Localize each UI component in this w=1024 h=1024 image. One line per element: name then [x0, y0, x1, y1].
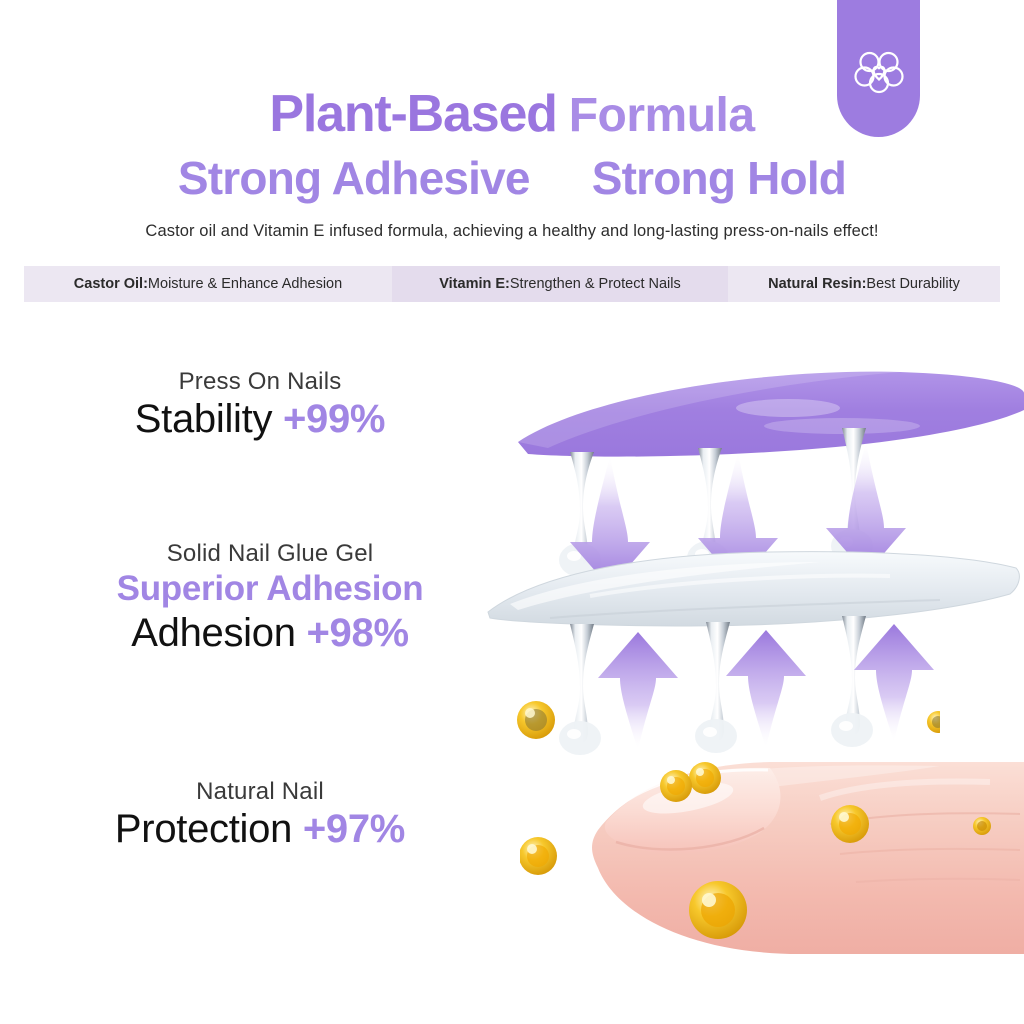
headline-formula: Formula	[569, 89, 755, 142]
stat-title: Protection	[115, 807, 292, 851]
oil-capsule	[660, 770, 692, 802]
ingredient-value: Best Durability	[866, 276, 959, 292]
ingredient-key: Natural Resin:	[768, 276, 866, 292]
flower-heart-icon	[851, 42, 907, 98]
stat-press-on-nails: Press On Nails Stability +99%	[90, 368, 430, 443]
oil-capsule	[927, 711, 940, 733]
oil-capsule	[517, 701, 555, 739]
ingredient-castor-oil: Castor Oil: Moisture & Enhance Adhesion	[24, 266, 392, 302]
stat-caption: Press On Nails	[90, 368, 430, 396]
stat-headline: Adhesion +98%	[60, 610, 480, 657]
infographic-canvas: Plant-BasedFormula Strong AdhesiveStrong…	[0, 0, 1024, 1024]
stat-percent: +99%	[283, 397, 385, 441]
headline-strong-hold: Strong Hold	[592, 152, 846, 204]
stat-natural-nail: Natural Nail Protection +97%	[80, 778, 440, 853]
stat-headline: Stability +99%	[90, 396, 430, 443]
ingredient-bar: Castor Oil: Moisture & Enhance Adhesion …	[24, 266, 1000, 302]
ingredient-value: Strengthen & Protect Nails	[510, 276, 681, 292]
stat-highlight: Superior Adhesion	[60, 568, 480, 610]
stat-percent: +98%	[307, 611, 409, 655]
ingredient-key: Castor Oil:	[74, 276, 148, 292]
stat-caption: Natural Nail	[80, 778, 440, 806]
stat-caption: Solid Nail Glue Gel	[60, 540, 480, 568]
subtitle-text: Castor oil and Vitamin E infused formula…	[0, 222, 1024, 241]
stat-title: Stability	[135, 397, 272, 441]
stat-percent: +97%	[303, 807, 405, 851]
ingredient-vitamin-e: Vitamin E: Strengthen & Protect Nails	[392, 266, 728, 302]
ingredient-key: Vitamin E:	[439, 276, 510, 292]
ingredient-natural-resin: Natural Resin: Best Durability	[728, 266, 1000, 302]
ingredient-value: Moisture & Enhance Adhesion	[148, 276, 342, 292]
headline-strong-adhesive: Strong Adhesive	[178, 152, 530, 204]
oil-capsules-floating	[470, 680, 940, 900]
stat-title: Adhesion	[131, 611, 295, 655]
purple-nail-tip	[518, 372, 1024, 457]
stat-headline: Protection +97%	[80, 806, 440, 853]
headline-plant-based: Plant-Based	[269, 85, 556, 143]
stat-solid-nail-glue-gel: Solid Nail Glue Gel Superior Adhesion Ad…	[60, 540, 480, 657]
plant-based-badge	[837, 0, 920, 137]
headline-line-2: Strong AdhesiveStrong Hold	[0, 155, 1024, 201]
